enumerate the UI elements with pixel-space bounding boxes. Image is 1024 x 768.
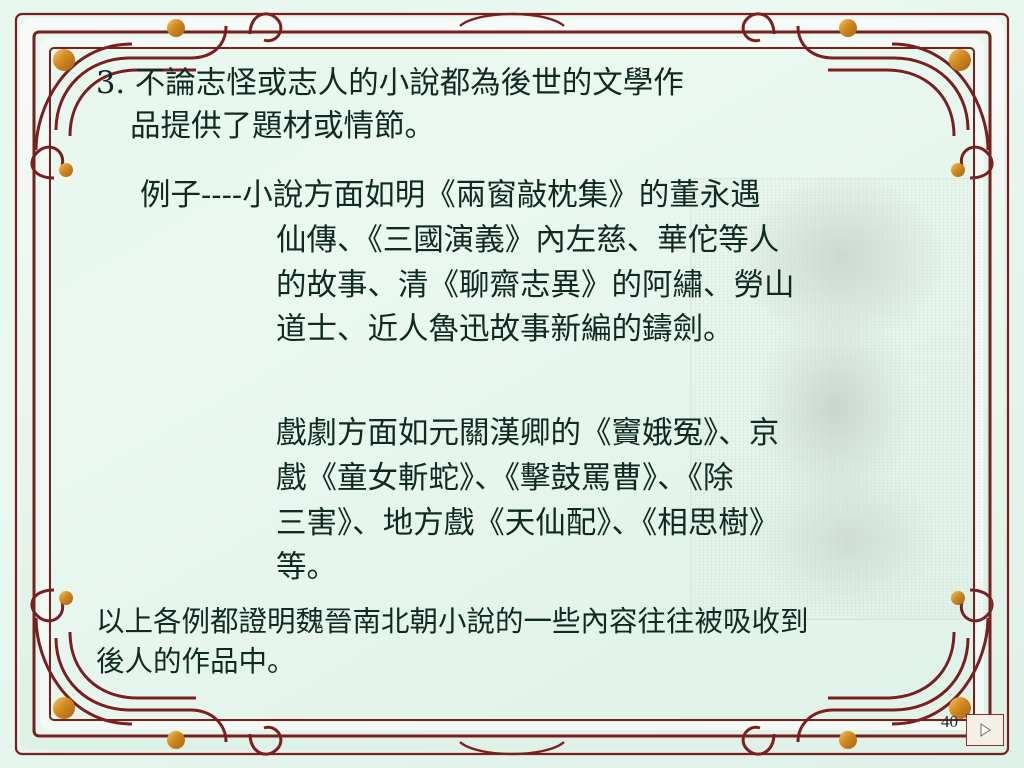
- conclusion-line1: 以上各例都證明魏晉南北朝小說的一些內容往往被吸收到: [96, 605, 809, 638]
- item3-line1: 3. 不論志怪或志人的小說都為後世的文學作: [96, 66, 684, 101]
- example-line1: 例子----小說方面如明《兩窗敲枕集》的董永遇: [140, 178, 761, 213]
- paragraph-conclusion: 以上各例都證明魏晉南北朝小說的一些內容往往被吸收到 後人的作品中。: [96, 602, 976, 683]
- example-line4: 道士、近人魯迅故事新編的鑄劍。: [140, 308, 970, 353]
- example-line2: 仙傳、《三國演義》內左慈、華佗等人: [140, 219, 970, 264]
- next-slide-button[interactable]: [966, 714, 1004, 746]
- paragraph-drama: 戲劇方面如元關漢卿的《竇娥冤》、京 戲《童女斬蛇》、《擊鼓罵曹》、《除 三害》、…: [276, 412, 996, 591]
- example-line3: 的故事、清《聊齋志異》的阿繡、勞山: [140, 264, 970, 309]
- paragraph-example: 例子----小說方面如明《兩窗敲枕集》的董永遇 仙傳、《三國演義》內左慈、華佗等…: [140, 174, 970, 353]
- slide: 3. 不論志怪或志人的小說都為後世的文學作 品提供了題材或情節。 例子----小…: [0, 0, 1024, 768]
- drama-line2: 戲《童女斬蛇》、《擊鼓罵曹》、《除: [276, 461, 734, 496]
- drama-line1: 戲劇方面如元關漢卿的《竇娥冤》、京: [276, 416, 779, 451]
- conclusion-line2: 後人的作品中。: [96, 642, 976, 682]
- drama-line3: 三害》、地方戲《天仙配》、《相思樹》: [276, 506, 779, 541]
- item3-line2: 品提供了題材或情節。: [96, 105, 886, 148]
- play-triangle-icon: [977, 722, 993, 738]
- slide-content: 3. 不論志怪或志人的小說都為後世的文學作 品提供了題材或情節。 例子----小…: [0, 0, 1024, 768]
- drama-line4: 等。: [276, 550, 337, 585]
- paragraph-item-3: 3. 不論志怪或志人的小說都為後世的文學作 品提供了題材或情節。: [96, 62, 886, 149]
- page-number: 40: [941, 712, 958, 732]
